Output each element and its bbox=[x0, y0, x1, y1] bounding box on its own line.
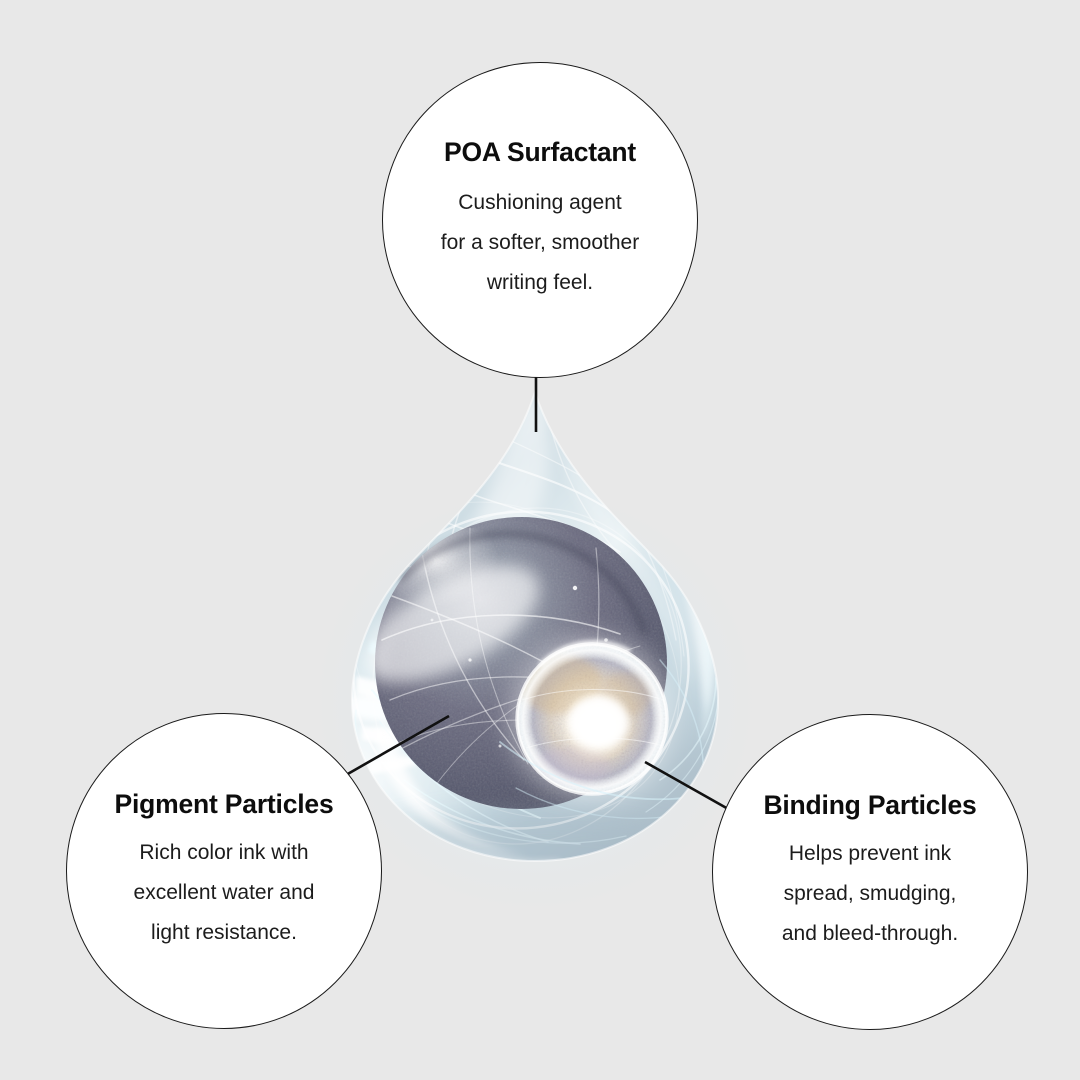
callout-title: Pigment Particles bbox=[115, 789, 334, 820]
callout-body-line: spread, smudging, bbox=[782, 874, 958, 914]
callout-body-line: Cushioning agent bbox=[441, 183, 639, 223]
callout-body: Cushioning agent for a softer, smoother … bbox=[441, 183, 639, 304]
callout-body-line: light resistance. bbox=[134, 913, 315, 953]
callout-body-line: writing feel. bbox=[441, 263, 639, 303]
infographic-canvas: POA Surfactant Cushioning agent for a so… bbox=[0, 0, 1080, 1080]
callout-title: POA Surfactant bbox=[444, 137, 636, 168]
callout-body: Rich color ink with excellent water and … bbox=[134, 833, 315, 954]
callout-pigment-particles[interactable]: Pigment Particles Rich color ink with ex… bbox=[66, 713, 382, 1029]
callout-body: Helps prevent ink spread, smudging, and … bbox=[782, 834, 958, 955]
callout-body-line: Rich color ink with bbox=[134, 833, 315, 873]
callout-binding-particles[interactable]: Binding Particles Helps prevent ink spre… bbox=[712, 714, 1028, 1030]
callout-body-line: for a softer, smoother bbox=[441, 223, 639, 263]
callout-body-line: Helps prevent ink bbox=[782, 834, 958, 874]
callout-poa-surfactant[interactable]: POA Surfactant Cushioning agent for a so… bbox=[382, 62, 698, 378]
callout-body-line: excellent water and bbox=[134, 873, 315, 913]
callout-body-line: and bleed-through. bbox=[782, 914, 958, 954]
callout-title: Binding Particles bbox=[763, 790, 976, 821]
